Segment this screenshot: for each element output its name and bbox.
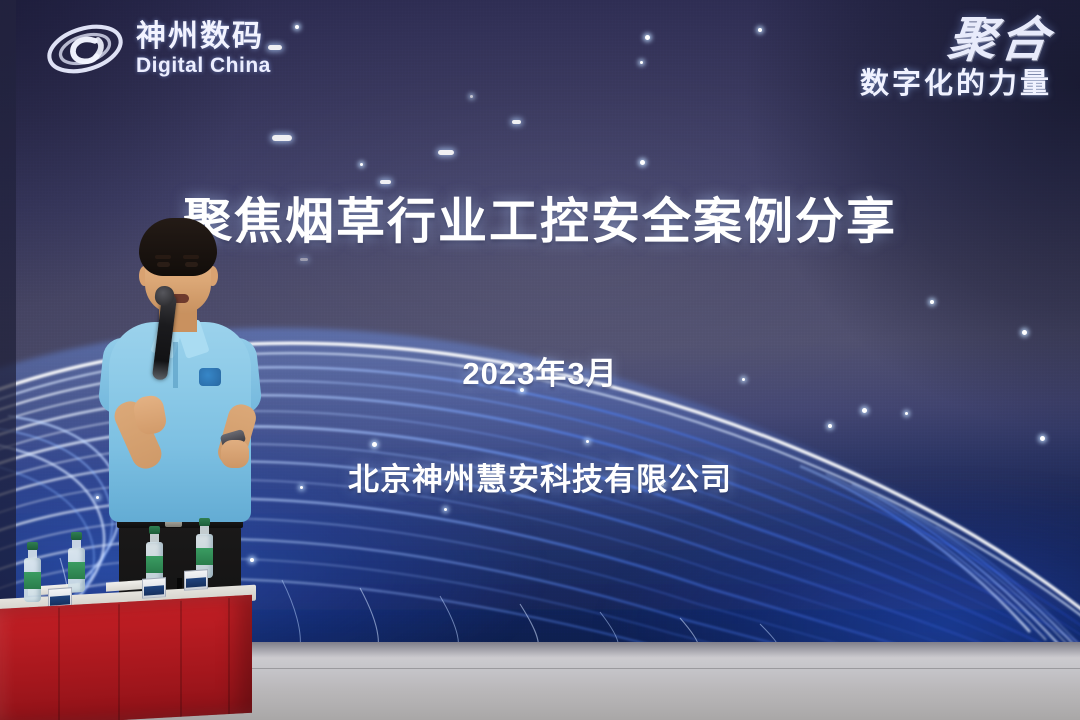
event-theme-subtitle: 数字化的力量 xyxy=(860,70,1052,99)
digital-china-logo: 神州数码 Digital China xyxy=(44,18,271,80)
logo-english-name: Digital China xyxy=(136,55,271,76)
speaker-eyebrow-left xyxy=(155,255,171,259)
digital-china-spiral-logo-icon xyxy=(44,18,126,80)
name-card-band xyxy=(186,577,206,587)
bottle-cap xyxy=(199,518,210,526)
logo-chinese-name: 神州数码 xyxy=(136,22,271,52)
water-bottle xyxy=(68,532,85,592)
name-card xyxy=(142,577,166,599)
speaker-eye-right xyxy=(185,262,198,267)
speaker-hand-right xyxy=(221,440,249,468)
bottle-cap xyxy=(27,542,38,550)
table-skirt-red xyxy=(0,595,252,720)
bottle-cap xyxy=(71,532,82,540)
bottle-label xyxy=(146,556,163,573)
speaker-shirt-logo-icon xyxy=(199,368,221,386)
bottle-label xyxy=(196,548,213,565)
speaker-shirt-placket xyxy=(173,342,178,388)
speaker-eyebrow-right xyxy=(183,255,199,259)
name-card-band xyxy=(144,585,164,595)
event-theme-logo: 聚合 数字化的力量 xyxy=(860,16,1052,99)
bottle-label xyxy=(24,572,41,589)
event-calligraphy-title: 聚合 xyxy=(857,16,1054,64)
front-table xyxy=(0,570,262,720)
bottle-cap xyxy=(149,526,160,534)
screen-left-edge xyxy=(0,0,16,648)
name-card xyxy=(184,569,208,591)
speaker-hair xyxy=(139,218,217,276)
water-bottle xyxy=(24,542,41,602)
conference-stage-photo: 神州数码 Digital China 聚合 数字化的力量 聚焦烟草行业工控安全案… xyxy=(0,0,1080,720)
bottle-label xyxy=(68,562,85,579)
speaker-eye-left xyxy=(157,262,170,267)
